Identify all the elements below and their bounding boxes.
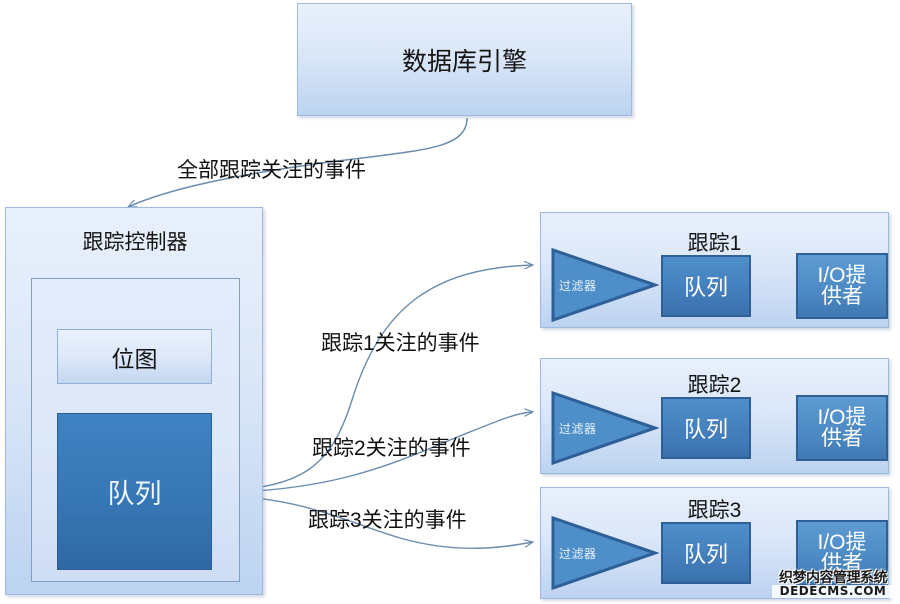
trace-queue-label-3: 队列 <box>684 537 728 569</box>
io-provider-label-1-line1: I/O提 <box>817 265 866 286</box>
io-provider-label-2-line1: I/O提 <box>817 407 866 428</box>
edge-label-trace2-events: 跟踪2关注的事件 <box>312 432 471 462</box>
edge-label-trace3-events: 跟踪3关注的事件 <box>308 504 467 534</box>
filter-label-2: 过滤器 <box>559 420 597 437</box>
trace-queue-box-3[interactable]: 队列 <box>661 522 751 584</box>
trace-queue-box-1[interactable]: 队列 <box>661 255 751 317</box>
bitmap-label: 位图 <box>112 340 158 374</box>
trace-queue-label-1: 队列 <box>684 270 728 302</box>
diagram-canvas: 数据库引擎 跟踪控制器 位图 队列 全部跟踪关注的事件 跟踪1关注的事件 跟踪2… <box>0 0 900 604</box>
watermark-line1: 织梦内容管理系统 <box>772 571 894 586</box>
edge-label-trace1-events: 跟踪1关注的事件 <box>321 327 480 357</box>
trace-controller-label: 跟踪控制器 <box>6 226 264 256</box>
database-engine-label: 数据库引擎 <box>402 42 527 78</box>
io-provider-box-1[interactable]: I/O提 供者 <box>796 253 888 319</box>
trace-box-2[interactable]: 跟踪2 过滤器 队列 I/O提 供者 <box>540 358 889 474</box>
controller-queue-label: 队列 <box>108 472 162 511</box>
filter-label-3: 过滤器 <box>559 545 597 562</box>
io-provider-label-3-line1: I/O提 <box>817 532 866 553</box>
trace-controller-box[interactable]: 跟踪控制器 位图 队列 <box>5 207 263 595</box>
trace-queue-box-2[interactable]: 队列 <box>661 397 751 459</box>
filter-label-1: 过滤器 <box>559 277 597 294</box>
edge-label-all-events: 全部跟踪关注的事件 <box>177 154 366 184</box>
watermark-line2: DEDECMS.COM <box>772 585 894 598</box>
io-provider-label-2-line2: 供者 <box>821 428 863 449</box>
watermark: 织梦内容管理系统 DEDECMS.COM <box>772 571 894 598</box>
io-provider-box-2[interactable]: I/O提 供者 <box>796 395 888 461</box>
trace-box-1[interactable]: 跟踪1 过滤器 队列 I/O提 供者 <box>540 212 889 328</box>
io-provider-label-1-line2: 供者 <box>821 286 863 307</box>
trace-queue-label-2: 队列 <box>684 412 728 444</box>
database-engine-box[interactable]: 数据库引擎 <box>297 3 632 116</box>
bitmap-box[interactable]: 位图 <box>57 329 212 384</box>
controller-queue-box[interactable]: 队列 <box>57 413 212 570</box>
